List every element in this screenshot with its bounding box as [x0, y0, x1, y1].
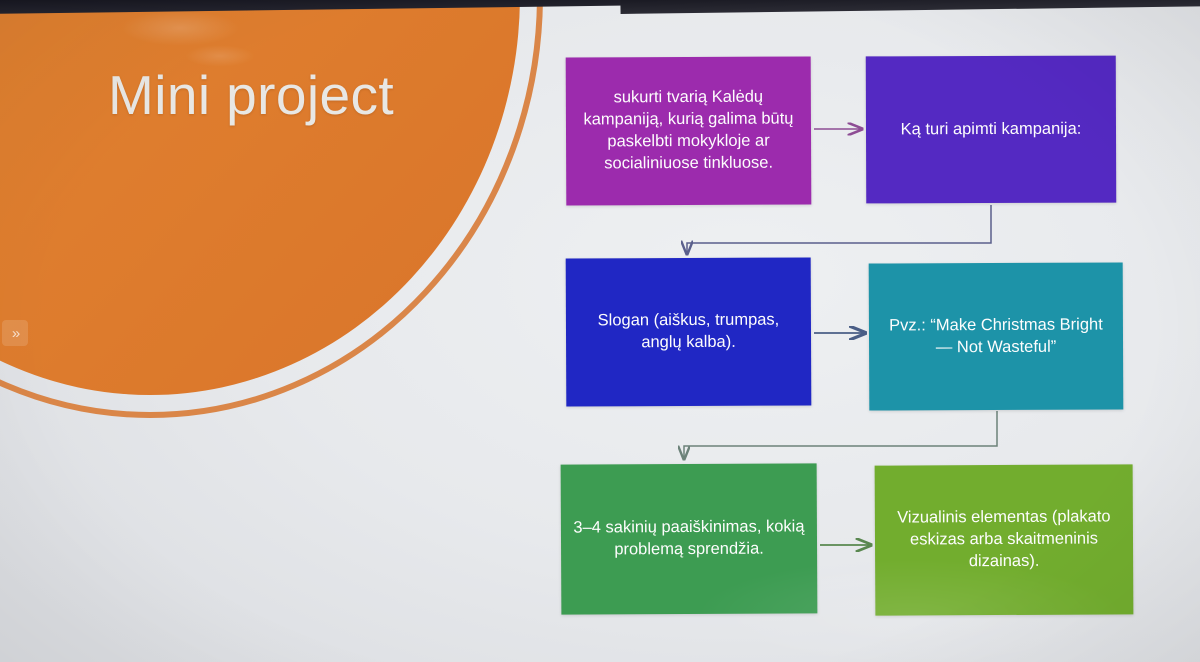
- flow-node-slogan[interactable]: Slogan (aiškus, trumpas, anglų kalba).: [566, 257, 812, 406]
- flow-node-include[interactable]: Ką turi apimti kampanija:: [866, 56, 1117, 204]
- expand-chevron-icon[interactable]: »: [2, 320, 28, 346]
- expand-chevron-glyph: »: [12, 326, 18, 341]
- flow-node-slogan-label: Slogan (aiškus, trumpas, anglų kalba).: [578, 310, 799, 355]
- flow-node-visual[interactable]: Vizualinis elementas (plakato eskizas ar…: [875, 464, 1134, 615]
- flow-node-visual-label: Vizualinis elementas (plakato eskizas ar…: [887, 506, 1121, 573]
- slide-photo: Mini project: [0, 0, 1200, 662]
- flow-node-include-label: Ką turi apimti kampanija:: [901, 118, 1082, 141]
- flow-node-explain-label: 3–4 sakinių paaiškinimas, kokią problemą…: [573, 516, 805, 561]
- flow-node-explain[interactable]: 3–4 sakinių paaiškinimas, kokią problemą…: [561, 463, 818, 614]
- flow-diagram: sukurti tvarią Kalėdų kampaniją, kurią g…: [0, 0, 1200, 662]
- flow-node-brief-label: sukurti tvarią Kalėdų kampaniją, kurią g…: [578, 87, 799, 176]
- flow-node-example-label: Pvz.: “Make Christmas Bright — Not Waste…: [881, 314, 1111, 359]
- flow-node-brief[interactable]: sukurti tvarią Kalėdų kampaniją, kurią g…: [566, 56, 812, 205]
- flow-node-example[interactable]: Pvz.: “Make Christmas Bright — Not Waste…: [869, 262, 1124, 410]
